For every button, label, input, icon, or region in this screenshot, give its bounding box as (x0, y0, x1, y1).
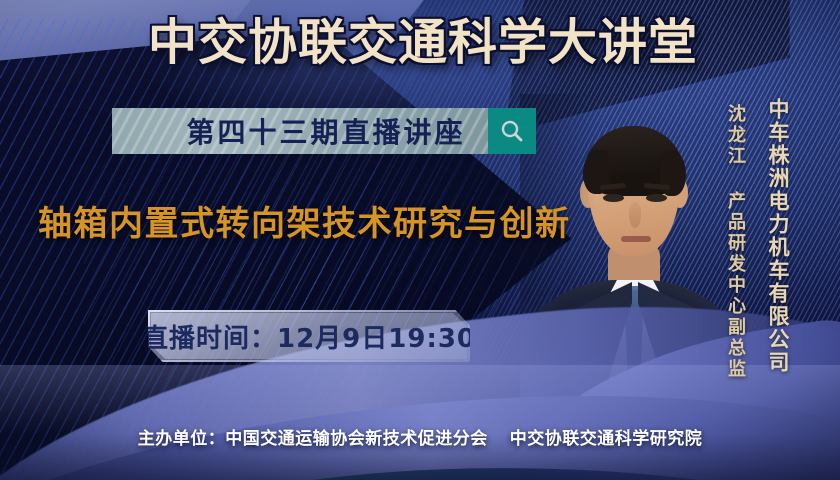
live-stream-poster: 中交协联交通科学大讲堂 第四十三期直播讲座 轴箱内置式转向架技术研究与创新 直播… (0, 0, 840, 480)
search-icon (499, 118, 525, 144)
organizer-label: 主办单位： (138, 429, 226, 449)
page-title: 中交协联交通科学大讲堂 (0, 16, 840, 71)
episode-banner-body: 第四十三期直播讲座 (112, 108, 488, 154)
organizer-footer: 主办单位：中国交通运输协会新技术促进分会中交协联交通科学研究院 (0, 424, 840, 449)
episode-banner: 第四十三期直播讲座 (112, 108, 536, 154)
organizer-secondary: 中交协联交通科学研究院 (510, 429, 703, 449)
speaker-name-title: 沈龙江 产品研发中心副总监 (722, 104, 748, 380)
schedule-text: 直播时间：12月9日19:30 (142, 318, 476, 355)
episode-label: 第四十三期直播讲座 (134, 111, 465, 151)
topic-title: 轴箱内置式转向架技术研究与创新 (38, 196, 598, 245)
organizer-primary: 中国交通运输协会新技术促进分会 (225, 429, 488, 449)
schedule-box: 直播时间：12月9日19:30 (148, 310, 470, 362)
speaker-organization: 中车株洲电力机车有限公司 (763, 98, 793, 374)
search-button[interactable] (488, 108, 536, 154)
